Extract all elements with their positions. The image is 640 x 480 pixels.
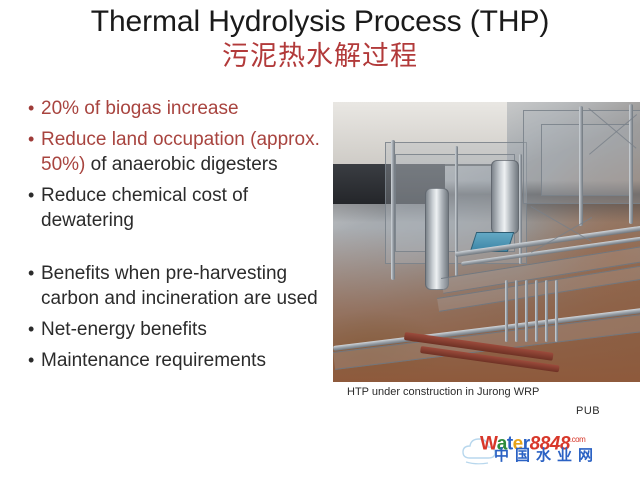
bullet-item-chemical-cost: • Reduce chemical cost of dewatering	[28, 183, 333, 233]
photo-column	[579, 106, 583, 226]
construction-photo-image	[333, 102, 640, 382]
photo-pipe	[545, 280, 548, 342]
bullet-text-land-occupation: Reduce land occupation (approx. 50%) of …	[41, 127, 333, 177]
bullet-item-maintenance: • Maintenance requirements	[28, 348, 333, 373]
photo-tank	[491, 160, 519, 234]
bullet-text-chemical-cost: Reduce chemical cost of dewatering	[41, 183, 333, 233]
bullet-text-maintenance: Maintenance requirements	[41, 348, 333, 373]
photo-pipe	[525, 280, 528, 342]
bullet-dot-icon: •	[28, 96, 41, 121]
bullet-item-land-occupation: • Reduce land occupation (approx. 50%) o…	[28, 127, 333, 177]
photo-pipe	[535, 280, 538, 342]
bullet-dot-icon: •	[28, 348, 41, 373]
photo-column	[391, 140, 395, 280]
bullet-item-pre-harvesting: • Benefits when pre-harvesting carbon an…	[28, 261, 333, 311]
bullet-list: • 20% of biogas increase • Reduce land o…	[28, 96, 333, 379]
slide-title-chinese: 污泥热水解过程	[0, 40, 640, 72]
bullet-text-biogas-increase: 20% of biogas increase	[41, 96, 333, 121]
bullet-dot-icon: •	[28, 317, 41, 342]
slide-title-block: Thermal Hydrolysis Process (THP) 污泥热水解过程	[0, 4, 640, 72]
bullet-text-land-occupation-black: of anaerobic digesters	[85, 154, 277, 175]
slide-title-english: Thermal Hydrolysis Process (THP)	[0, 4, 640, 40]
bullet-item-net-energy: • Net-energy benefits	[28, 317, 333, 342]
photo-column	[629, 104, 633, 224]
watermark-chinese-name: 中国水业网	[494, 447, 599, 465]
bullet-text-net-energy: Net-energy benefits	[41, 317, 333, 342]
bullet-item-biogas-increase: • 20% of biogas increase	[28, 96, 333, 121]
photo-pipe	[505, 280, 508, 342]
photo-pipe	[515, 280, 518, 342]
bullet-dot-icon: •	[28, 127, 41, 152]
presentation-slide: Thermal Hydrolysis Process (THP) 污泥热水解过程…	[0, 0, 640, 480]
watermark-domain-suffix: .com	[570, 435, 585, 444]
construction-photo	[333, 102, 640, 382]
site-watermark: Water8848.com 中国水业网	[458, 428, 630, 474]
source-credit: PUB	[576, 404, 600, 418]
photo-caption: HTP under construction in Jurong WRP	[347, 385, 539, 399]
bullet-group-spacer	[28, 239, 333, 261]
bullet-text-pre-harvesting: Benefits when pre-harvesting carbon and …	[41, 261, 333, 311]
bullet-dot-icon: •	[28, 183, 41, 208]
photo-pipe	[555, 280, 558, 342]
bullet-dot-icon: •	[28, 261, 41, 286]
photo-tank	[425, 188, 449, 290]
